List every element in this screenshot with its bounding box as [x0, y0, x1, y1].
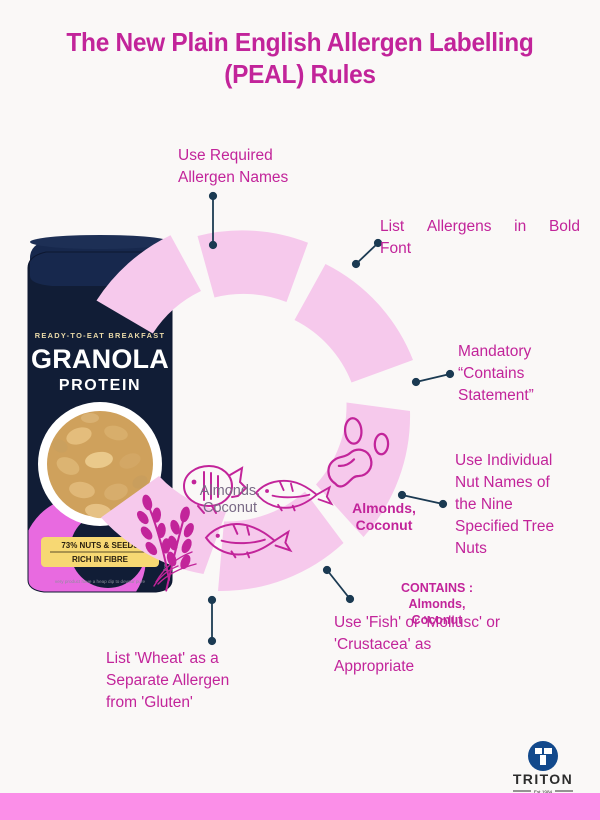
wheel-segment-bold-font[interactable]: [198, 230, 309, 302]
logo-wordmark: TRITON: [513, 771, 573, 787]
callout-mandatory: Mandatory “Contains Statement”: [458, 341, 598, 407]
callout-wheat: List 'Wheat' as a Separate Allergen from…: [106, 648, 286, 714]
wheel-segment-tree-nuts[interactable]: [316, 403, 410, 538]
callout-fish: Use 'Fish' or 'Mollusc' or 'Crustacea' a…: [334, 612, 554, 678]
page-title-line-2: (PEAL) Rules: [18, 58, 582, 90]
wheel-segment-required-names[interactable]: [97, 235, 202, 333]
infographic-root: The New Plain English Allergen Labelling…: [0, 0, 600, 820]
wheel-segment-contains[interactable]: [295, 264, 414, 383]
page-title: The New Plain English Allergen Labelling…: [18, 26, 582, 90]
callout-bold-font: List Allergens in Bold Font: [380, 216, 580, 260]
triton-logo: TRITON Est 1984: [505, 740, 581, 798]
footer-band: [0, 793, 600, 820]
callout-tree-nuts: Use Individual Nut Names of the Nine Spe…: [455, 450, 600, 560]
wheel-segment-fish[interactable]: [218, 492, 344, 592]
allergen-wheel: Almonds, Coconut Almonds, Coconut CONTAI…: [62, 228, 432, 608]
page-title-line-1: The New Plain English Allergen Labelling: [18, 26, 582, 58]
callout-required-names: Use Required Allergen Names: [178, 145, 358, 189]
